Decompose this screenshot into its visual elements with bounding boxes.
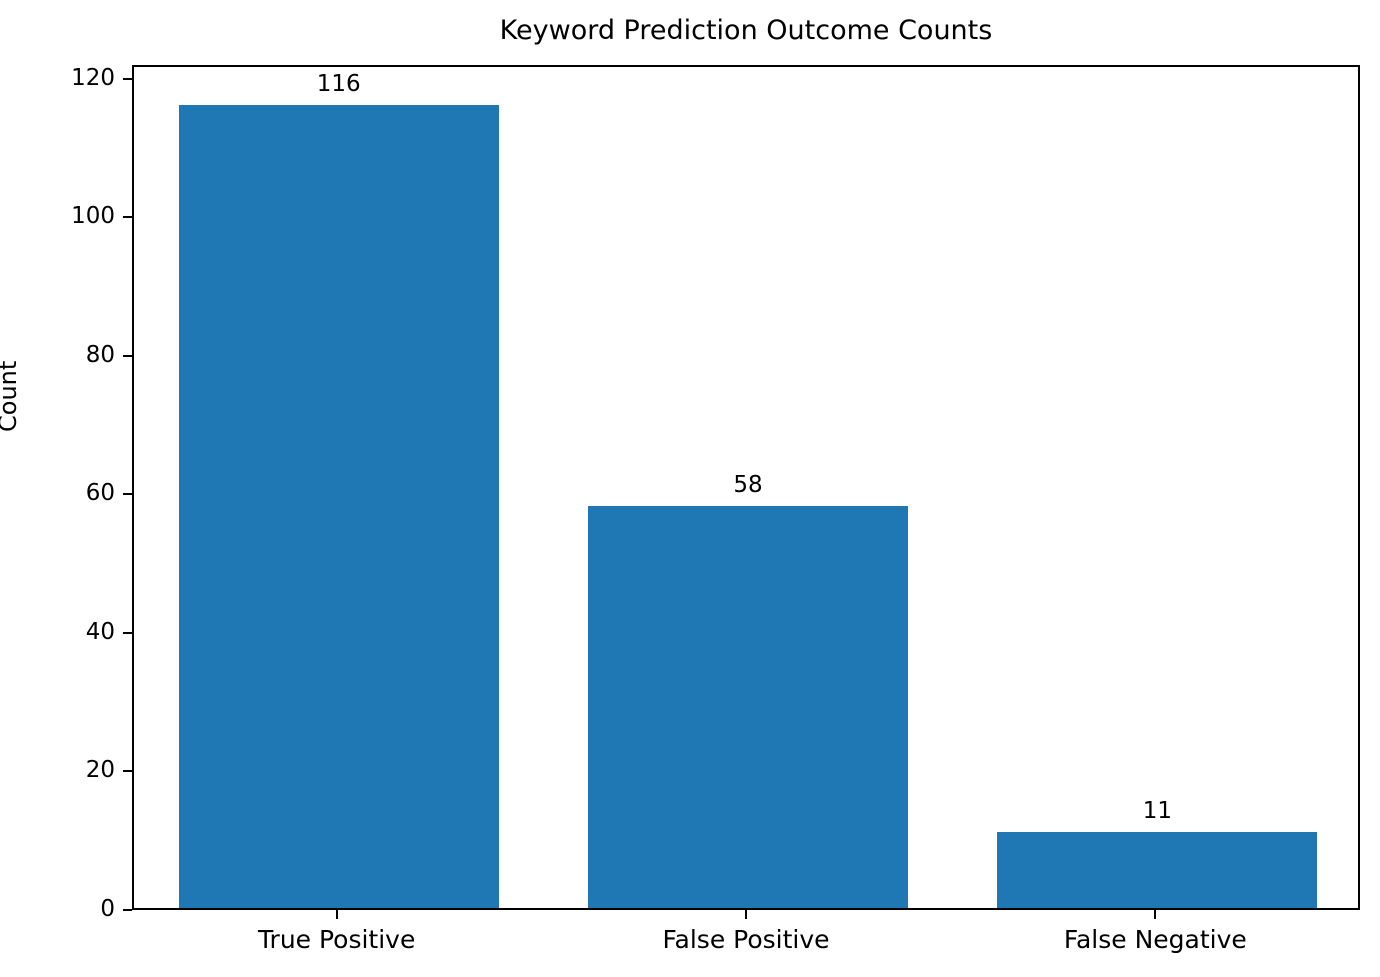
bar[interactable]: [997, 832, 1317, 908]
y-tick-mark: [123, 493, 132, 495]
y-tick-mark: [123, 632, 132, 634]
y-tick-label: 120: [71, 65, 115, 92]
bar[interactable]: [179, 105, 499, 908]
bar[interactable]: [588, 506, 908, 908]
y-tick-label: 20: [86, 757, 115, 784]
x-tick-mark: [336, 910, 338, 919]
bar-value-label: 11: [997, 798, 1317, 824]
y-tick-mark: [123, 909, 132, 911]
y-tick-label: 60: [86, 480, 115, 507]
y-axis-label: Count: [0, 361, 20, 432]
y-tick-mark: [123, 355, 132, 357]
y-tick-mark: [123, 770, 132, 772]
y-tick-label: 100: [71, 203, 115, 230]
x-tick-label: True Positive: [137, 925, 537, 955]
bar-value-label: 58: [588, 472, 908, 498]
y-tick-label: 40: [86, 619, 115, 646]
x-tick-mark: [1154, 910, 1156, 919]
y-tick-label: 0: [100, 896, 115, 923]
y-tick-label: 80: [86, 342, 115, 369]
x-tick-mark: [745, 910, 747, 919]
y-tick-mark: [123, 78, 132, 80]
x-tick-label: False Negative: [955, 925, 1355, 955]
plot-axes: 1165811: [132, 65, 1360, 910]
figure: Keyword Prediction Outcome Counts Count …: [0, 0, 1380, 977]
y-tick-mark: [123, 216, 132, 218]
plot-area: 1165811: [134, 67, 1358, 908]
x-tick-label: False Positive: [546, 925, 946, 955]
bar-value-label: 116: [179, 71, 499, 97]
chart-title: Keyword Prediction Outcome Counts: [132, 14, 1360, 48]
